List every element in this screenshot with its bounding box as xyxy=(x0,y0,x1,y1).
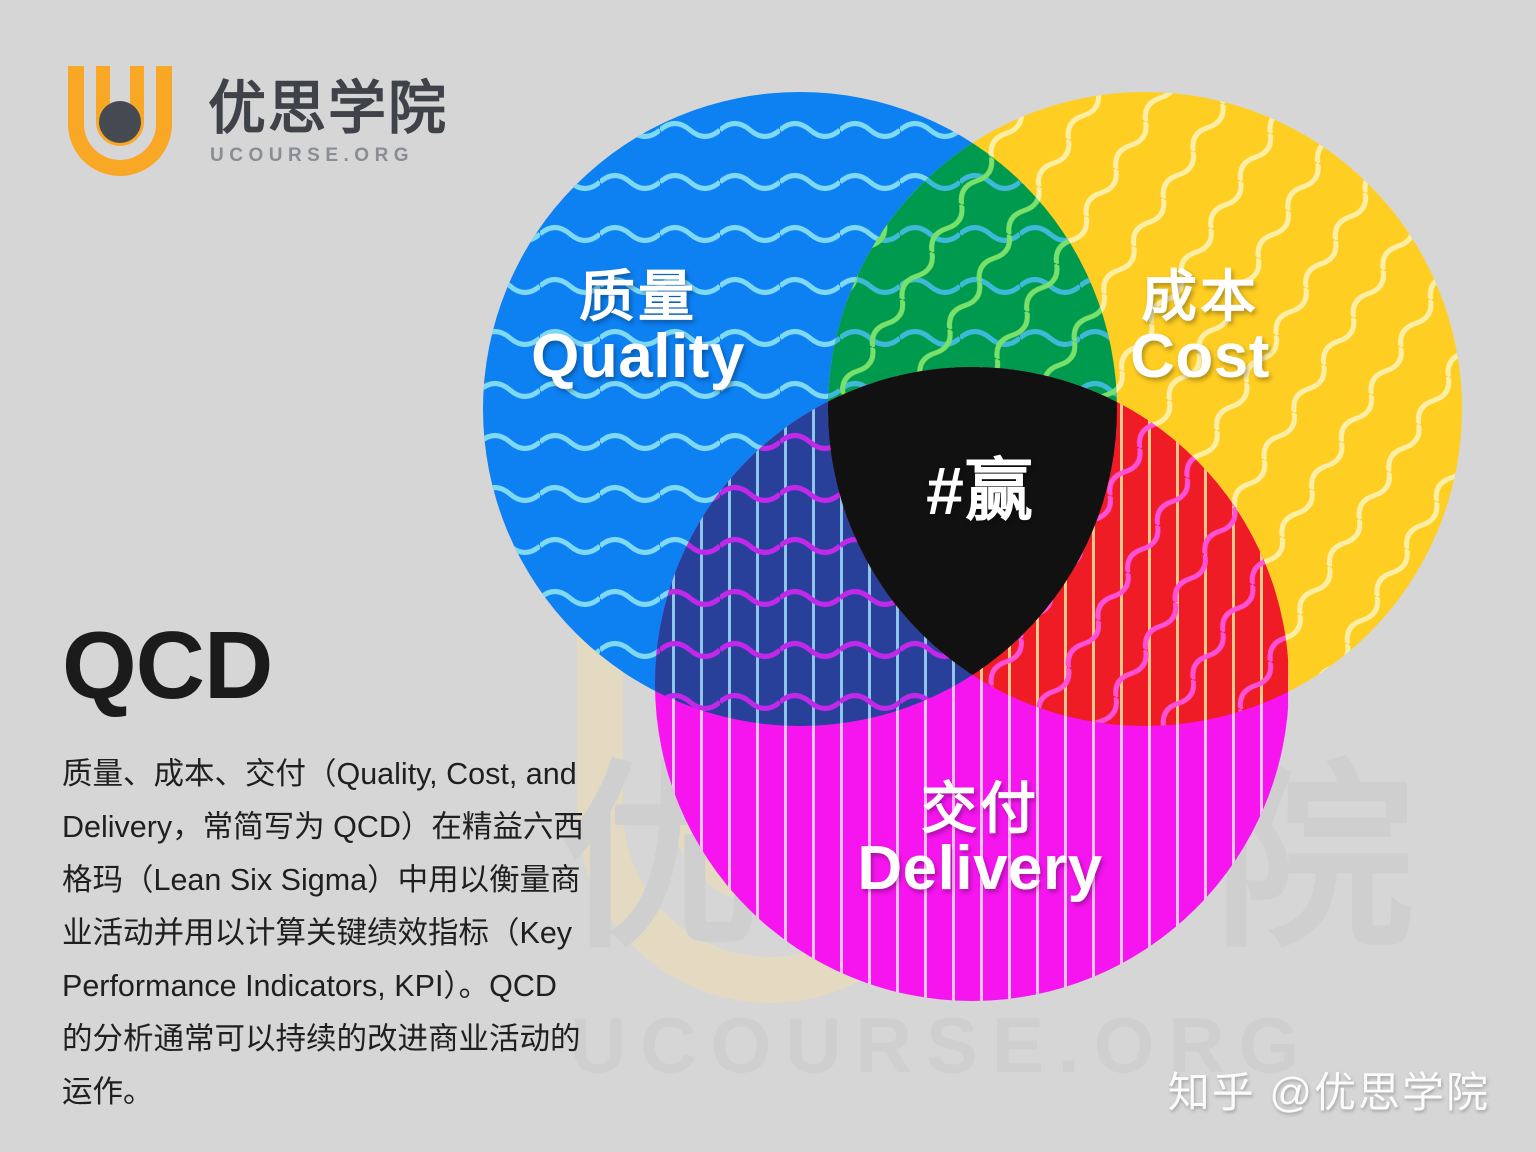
venn-label-quality-cn: 质量 xyxy=(478,268,798,325)
venn-label-quality-en: Quality xyxy=(478,325,798,388)
venn-label-delivery-cn: 交付 xyxy=(800,780,1160,837)
brand-name-cn: 优思学院 xyxy=(208,79,448,140)
venn-label-cost-en: Cost xyxy=(1060,325,1340,388)
venn-label-delivery-en: Delivery xyxy=(800,837,1160,900)
venn-label-delivery: 交付 Delivery xyxy=(800,780,1160,900)
page-title: QCD xyxy=(62,618,592,714)
venn-label-cost: 成本 Cost xyxy=(1060,268,1340,388)
article-body: 质量、成本、交付（Quality, Cost, and Delivery，常简写… xyxy=(62,748,592,1119)
u-course-logo-icon xyxy=(58,62,182,184)
brand-logo[interactable]: 优思学院 UCOURSE.ORG xyxy=(58,62,448,184)
brand-name-en: UCOURSE.ORG xyxy=(210,145,448,167)
venn-center-label: #赢 xyxy=(860,435,1100,534)
venn-label-quality: 质量 Quality xyxy=(478,268,798,388)
article-block: QCD 质量、成本、交付（Quality, Cost, and Delivery… xyxy=(62,618,592,1119)
attribution-watermark: 知乎 @优思学院 xyxy=(1168,1059,1490,1120)
venn-label-cost-cn: 成本 xyxy=(1060,268,1340,325)
